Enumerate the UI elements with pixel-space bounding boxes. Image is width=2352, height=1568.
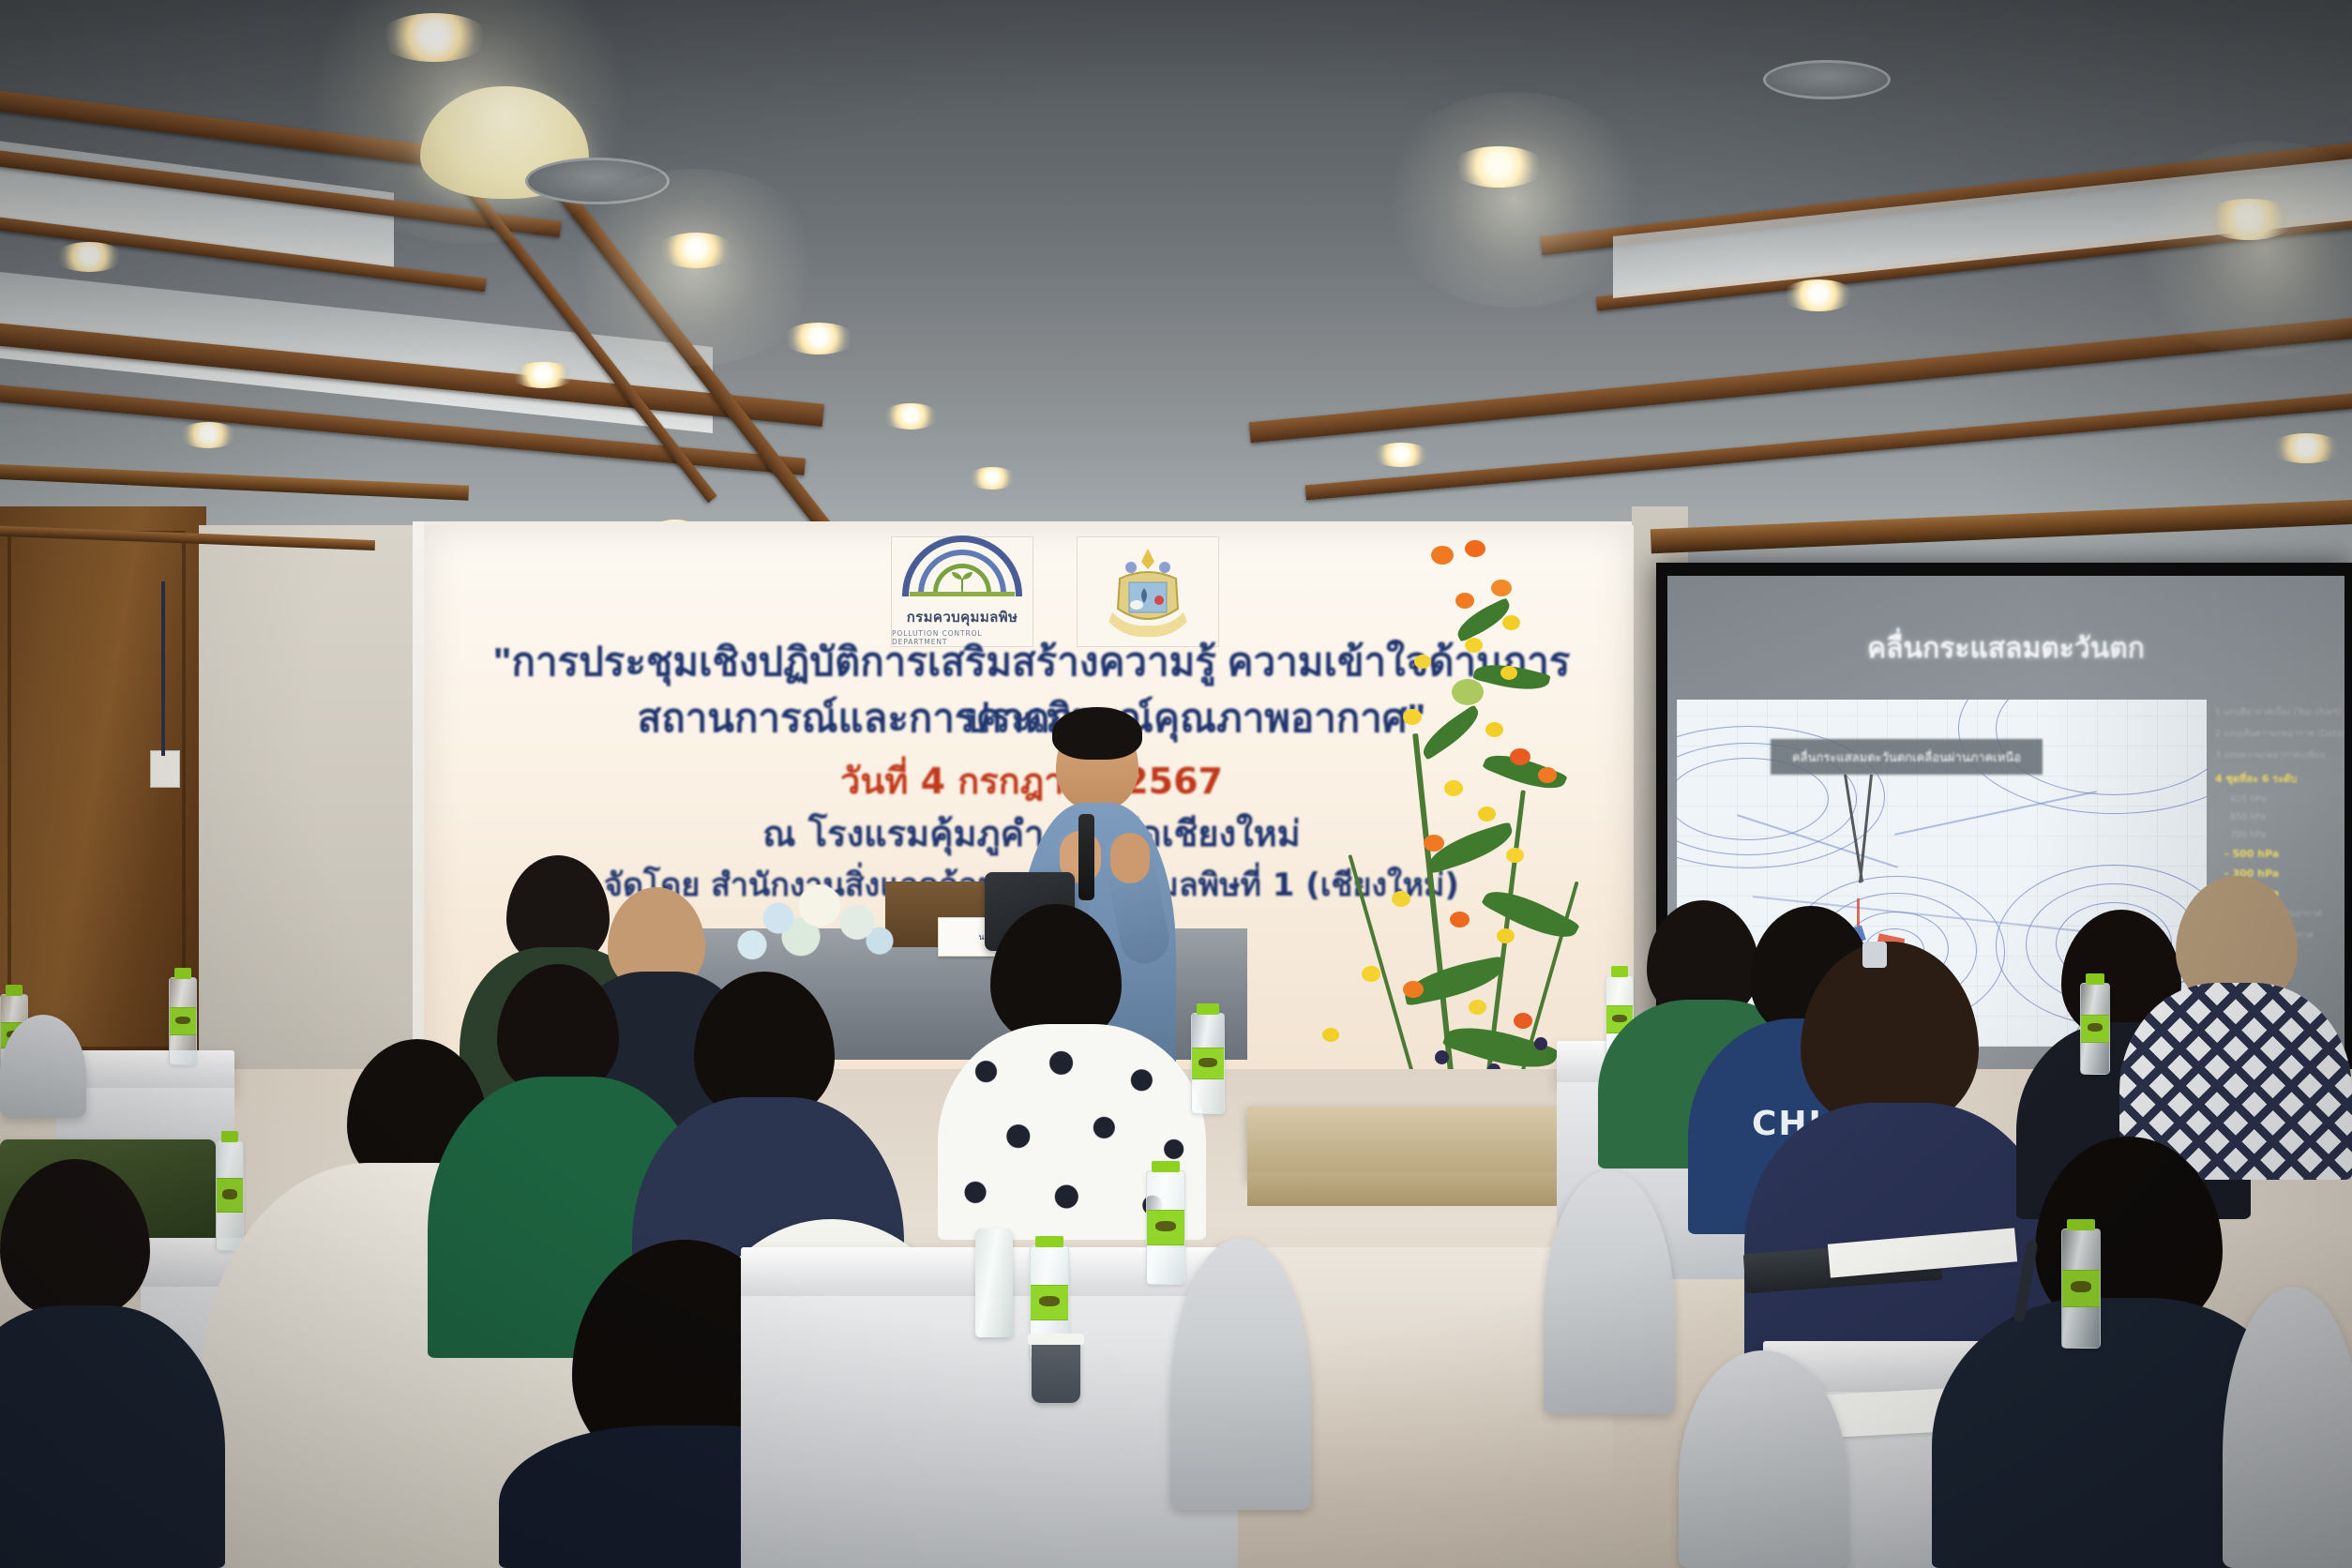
water-bottle[interactable]	[2061, 1229, 2101, 1349]
flower-yellow	[1403, 709, 1422, 725]
flower-yellow	[1322, 1028, 1339, 1042]
sidebar-item: 4 ชุดที่ละ 6 ระดับ	[2215, 770, 2344, 787]
flower-yellow	[1478, 807, 1496, 822]
ceiling-downlight	[379, 13, 490, 62]
flower-orange	[1403, 981, 1424, 998]
sidebar-item: - 500 hPa	[2224, 848, 2344, 860]
ceiling-air-vent	[525, 158, 670, 204]
flower-yellow	[1465, 638, 1483, 653]
microphone[interactable]	[1078, 814, 1094, 900]
conference-room-photo: กรมควบคุมมลพิษ POLLUTION CONTROL DEPARTM…	[0, 0, 2352, 1568]
wall-switch[interactable]	[150, 750, 180, 788]
speaker-hand	[1110, 833, 1150, 883]
sidebar-item: 1 แถบสีอากาศเบื้อง (Top chart)	[2215, 705, 2344, 719]
water-bottle[interactable]	[216, 1140, 244, 1251]
province-seal-logo	[1077, 536, 1219, 647]
flower-yellow	[1362, 966, 1380, 982]
ceiling-downlight	[54, 242, 124, 272]
sidebar-item: 700 hPa	[2230, 830, 2344, 840]
pcd-logo-thai-label: กรมควบคุมมลพิษ	[907, 606, 1018, 628]
ceiling-downlight	[1452, 146, 1545, 188]
flower-yellow	[1502, 615, 1520, 630]
pollution-control-department-logo: กรมควบคุมมลพิษ POLLUTION CONTROL DEPARTM…	[891, 536, 1033, 647]
flower-yellow	[1444, 780, 1463, 796]
pcd-arch-icon	[902, 545, 1022, 602]
water-bottle[interactable]	[169, 977, 197, 1065]
water-bottle[interactable]	[2080, 983, 2110, 1075]
sidebar-item: 925 hPa	[2230, 794, 2344, 805]
flower-orange	[1491, 580, 1512, 596]
stage-platform	[1247, 1107, 1604, 1180]
attendee-hairclip	[1862, 942, 1887, 968]
floral-arrangement-tall	[1313, 525, 1632, 1125]
flower-orange	[1431, 546, 1454, 565]
ceiling-downlight	[1371, 443, 1431, 467]
coffee-cup[interactable]	[1032, 1341, 1080, 1403]
flower-darkberry	[1435, 1050, 1449, 1064]
flower-yellow	[1497, 928, 1515, 943]
sidebar-item: 850 hPa	[2230, 812, 2344, 822]
wall-left	[199, 525, 424, 1088]
ceiling-downlight	[782, 323, 855, 354]
stage-front-face	[1247, 1172, 1604, 1206]
flower-yellow	[1500, 666, 1517, 680]
sidebar-item: 3 แถบความกดอากาศเปลี่ยน	[2215, 748, 2344, 762]
flower-orange	[1424, 835, 1444, 852]
water-bottle[interactable]	[1191, 1013, 1225, 1114]
ceiling-air-vent	[1763, 60, 1891, 99]
flower-orange	[1514, 1013, 1532, 1029]
flower-yellow	[1506, 848, 1524, 863]
flower-yellow	[1485, 722, 1503, 737]
flower-darkberry	[1534, 1037, 1547, 1050]
flower-orange	[1538, 767, 1557, 783]
banner-logo-row: กรมควบคุมมลพิษ POLLUTION CONTROL DEPARTM…	[891, 536, 1219, 647]
ceiling-downlight	[2202, 199, 2296, 240]
flower-orange	[1455, 593, 1474, 609]
ceiling-downlight	[656, 233, 735, 268]
sidebar-item: 2 แถบเส้นความกดอากาศ (Data)	[2215, 727, 2344, 741]
slide-title: คลื่นกระแสลมตะวันตก	[1667, 626, 2344, 671]
flower-orange	[1510, 748, 1530, 765]
flower-orange	[1450, 912, 1470, 927]
flower-yellow	[1469, 1000, 1486, 1015]
flower-green	[1452, 679, 1484, 705]
pcd-ground-line	[910, 592, 1015, 596]
ceiling-downlight	[2269, 433, 2343, 463]
flower-yellow	[1414, 655, 1431, 669]
flower-yellow	[1392, 891, 1410, 907]
ceiling-downlight	[1782, 279, 1855, 311]
wall-cable	[161, 581, 165, 756]
water-bottle[interactable]	[1146, 1170, 1185, 1285]
royal-emblem-icon	[1103, 547, 1193, 644]
ceiling-downlight	[882, 403, 940, 430]
speaker-hair	[1052, 707, 1142, 760]
slide-callout: คลื่นกระแสลมตะวันตกเคลื่อนผ่านภาคเหนือ	[1771, 739, 2043, 775]
thermos-bottle[interactable]	[975, 1229, 1013, 1337]
floral-arrangement-head-table	[722, 877, 910, 980]
pcd-sprout-icon	[946, 567, 978, 592]
ceiling-downlight	[968, 467, 1017, 490]
flower-orange	[1465, 540, 1485, 557]
ceiling-downlight	[510, 362, 576, 388]
ceiling-downlight	[178, 422, 238, 448]
